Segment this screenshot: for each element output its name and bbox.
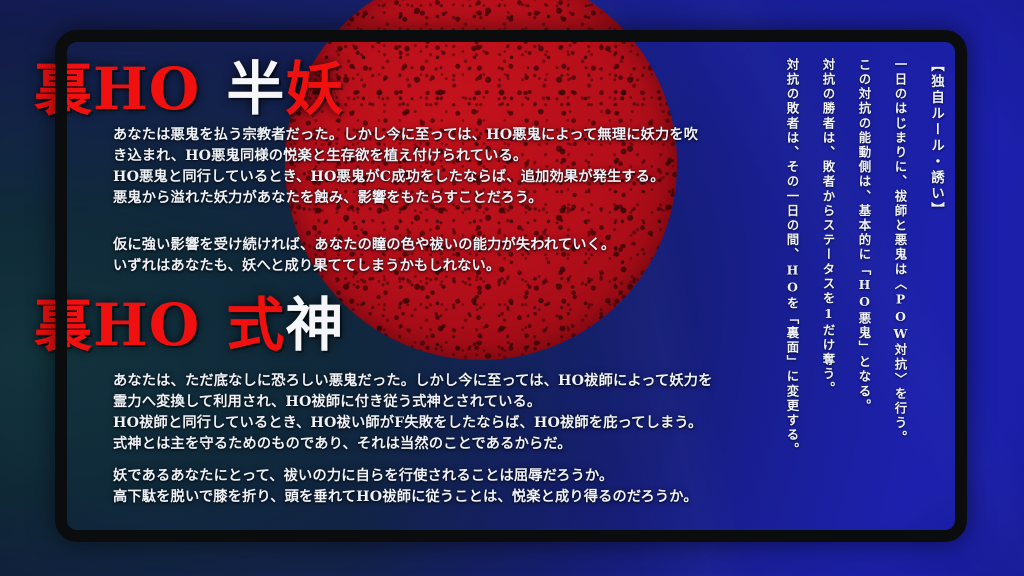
title-part-ura-ho-1: 裏HO [34, 55, 200, 123]
paragraph-line: HO悪鬼と同行しているとき、HO悪鬼がC成功をしたならば、追加効果が発生する。 [113, 167, 698, 188]
vertical-rules-heading: 【独自ルール・誘い】 [918, 58, 954, 218]
section-title-han-you: 裏HO半妖 [34, 60, 344, 118]
title-part-gami: 神 [285, 291, 344, 359]
paragraph-line: き込まれ、HO悪鬼同様の悦楽と生存欲を植え付けられている。 [113, 146, 698, 167]
title-part-ura-ho-2: 裏HO [34, 291, 200, 359]
paragraph-line: 霊力へ変換して利用され、HO祓師に付き従う式神とされている。 [113, 392, 713, 413]
paragraph-line: HO祓師と同行しているとき、HO祓い師がF失敗をしたならば、HO祓師を庇ってしま… [113, 413, 713, 434]
paragraph-line: あなたは、ただ底なしに恐ろしい悪鬼だった。しかし今に至っては、HO祓師によって妖… [113, 371, 713, 392]
vertical-rule-column-1: 一日のはじまりに、祓師と悪鬼は〈POW対抗〉を行う。 [882, 58, 918, 445]
paragraph-line: 式神とは主を守るためのものであり、それは当然のことであるからだ。 [113, 434, 713, 455]
title-part-shiki: 式 [226, 291, 285, 359]
section-title-shikigami: 裏HO式神 [34, 296, 344, 354]
vertical-rules-block: 対抗の敗者は、その一日の間、HOを「裏面」に変更する。 対抗の勝者は、敗者からス… [774, 58, 954, 457]
title-part-han: 半 [226, 55, 285, 123]
paragraph-line: いずれはあなたも、妖へと成り果ててしまうかもしれない。 [113, 256, 615, 277]
vertical-rule-column-3: 対抗の勝者は、敗者からステータスを1だけ奪う。 [810, 58, 846, 396]
paragraph-line: 妖であるあなたにとって、祓いの力に自らを行使されることは屈辱だろうか。 [113, 466, 698, 487]
title-part-you: 妖 [285, 55, 344, 123]
slide-content: 裏HO半妖 あなたは悪鬼を払う宗教者だった。しかし今に至っては、HO悪鬼によって… [0, 0, 1024, 576]
paragraph-line: あなたは悪鬼を払う宗教者だった。しかし今に至っては、HO悪鬼によって無理に妖力を… [113, 125, 698, 146]
paragraph-han-you-2: 仮に強い影響を受け続ければ、あなたの瞳の色や祓いの能力が失われていく。 いずれは… [113, 235, 615, 277]
paragraph-shikigami-1: あなたは、ただ底なしに恐ろしい悪鬼だった。しかし今に至っては、HO祓師によって妖… [113, 371, 713, 455]
paragraph-line: 高下駄を脱いで膝を折り、頭を垂れてHO祓師に従うことは、悦楽と成り得るのだろうか… [113, 487, 698, 508]
vertical-rule-column-4: 対抗の敗者は、その一日の間、HOを「裏面」に変更する。 [774, 58, 810, 457]
paragraph-han-you-1: あなたは悪鬼を払う宗教者だった。しかし今に至っては、HO悪鬼によって無理に妖力を… [113, 125, 698, 209]
paragraph-line: 仮に強い影響を受け続ければ、あなたの瞳の色や祓いの能力が失われていく。 [113, 235, 615, 256]
paragraph-shikigami-2: 妖であるあなたにとって、祓いの力に自らを行使されることは屈辱だろうか。 高下駄を… [113, 466, 698, 508]
vertical-rule-column-2: この対抗の能動側は、基本的に「HO悪鬼」となる。 [846, 58, 882, 414]
paragraph-line: 悪鬼から溢れた妖力があなたを蝕み、影響をもたらすことだろう。 [113, 188, 698, 209]
slide-canvas: 裏HO半妖 あなたは悪鬼を払う宗教者だった。しかし今に至っては、HO悪鬼によって… [0, 0, 1024, 576]
